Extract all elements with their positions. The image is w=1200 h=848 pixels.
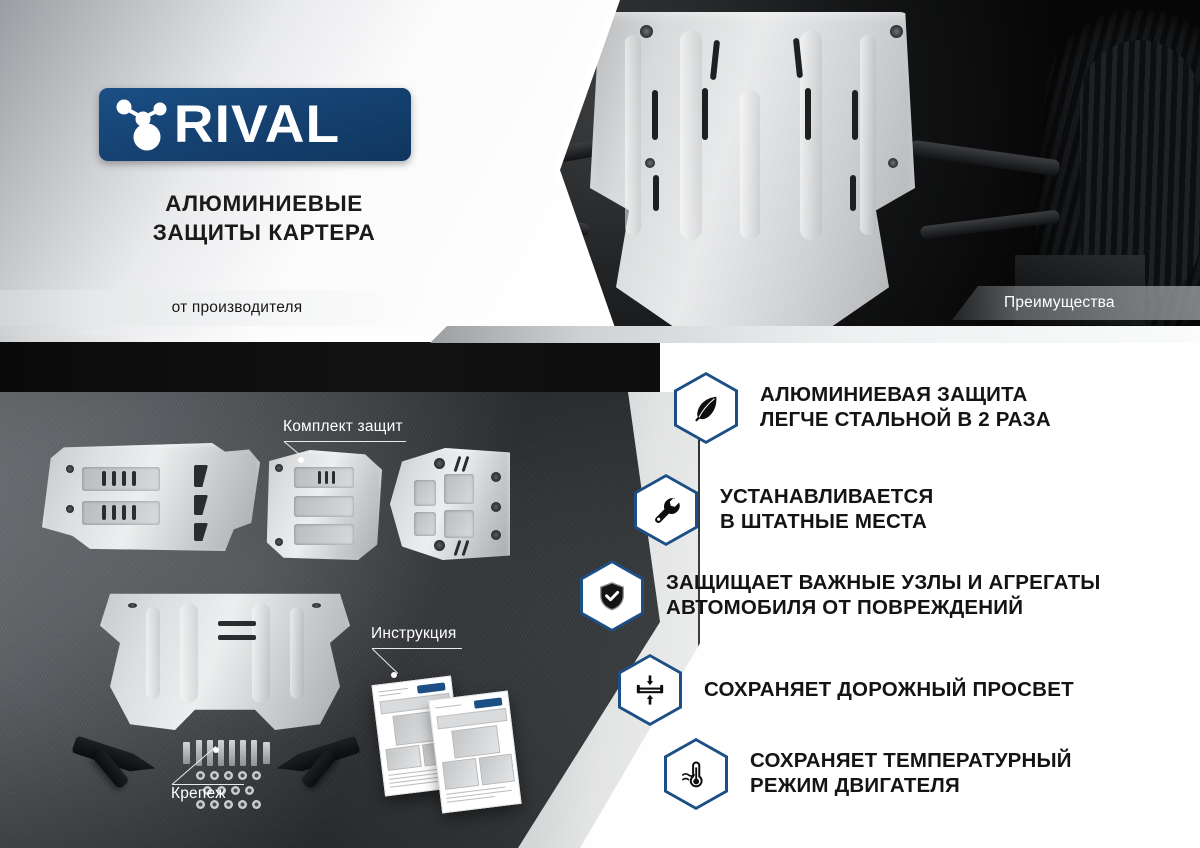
shield-check-icon	[580, 560, 644, 632]
skid-bolt-2	[890, 25, 903, 38]
skid-slot-2	[702, 88, 708, 140]
skid-slot-8	[850, 175, 856, 211]
label-kit-leader-dot	[298, 457, 304, 463]
hardware-washer-3	[224, 771, 233, 780]
label-hardware-leader-dot	[213, 747, 219, 753]
skid-rib-2	[680, 30, 702, 240]
hardware-plate-1	[183, 742, 190, 764]
hardware-washer-4	[238, 771, 247, 780]
label-instruction: Инструкция	[371, 625, 456, 643]
feature-5-line2: РЕЖИМ ДВИГАТЕЛЯ	[750, 774, 960, 797]
hardware-washer-9	[245, 786, 254, 795]
feature-item-3[interactable]: ЗАЩИЩАЕТ ВАЖНЫЕ УЗЛЫ И АГРЕГАТЫАВТОМОБИЛ…	[580, 560, 1101, 632]
feature-item-2[interactable]: УСТАНАВЛИВАЕТСЯВ ШТАТНЫЕ МЕСТА	[634, 474, 933, 546]
hardware-bolt-3	[218, 740, 224, 766]
feather-icon	[674, 372, 738, 444]
skid-rib-4	[860, 35, 876, 235]
hardware-plate-2	[263, 742, 270, 764]
feature-item-2-text: УСТАНАВЛИВАЕТСЯВ ШТАТНЫЕ МЕСТА	[720, 485, 933, 534]
skid-plate-large-bottom	[100, 585, 350, 730]
brand-wordmark: RIVAL	[174, 98, 340, 151]
skid-plate-large-left	[42, 443, 260, 551]
page-title: АЛЮМИНИЕВЫЕ ЗАЩИТЫ КАРТЕРА	[99, 190, 429, 247]
divider-black-band	[0, 342, 660, 394]
feature-item-1[interactable]: АЛЮМИНИЕВАЯ ЗАЩИТАЛЕГЧЕ СТАЛЬНОЙ В 2 РАЗ…	[674, 372, 1051, 444]
photo-under-strip	[430, 326, 1200, 343]
label-kit: Комплект защит	[283, 418, 403, 436]
instruction-sheet-back	[428, 691, 521, 814]
hero-panel-inner	[0, 0, 612, 335]
promo-poster: Преимущества RIVAL АЛЮМИНИЕВЫЕ ЗАЩИ	[0, 0, 1200, 848]
hardware-washer-1	[196, 771, 205, 780]
page-title-line1: АЛЮМИНИЕВЫЕ	[99, 190, 429, 219]
feature-item-4-text: СОХРАНЯЕТ ДОРОЖНЫЙ ПРОСВЕТ	[704, 678, 1074, 703]
skid-rib-5	[740, 90, 760, 240]
skid-rib-3	[800, 30, 822, 240]
label-instruction-leader-dot	[391, 672, 397, 678]
skid-slot-1	[652, 90, 658, 140]
feature-item-5[interactable]: СОХРАНЯЕТ ТЕМПЕРАТУРНЫЙРЕЖИМ ДВИГАТЕЛЯ	[664, 738, 1072, 810]
advantages-tag-label: Преимущества	[1004, 294, 1115, 312]
manufacturer-band-label: от производителя	[172, 299, 303, 317]
skid-bolt-3	[645, 158, 655, 168]
skid-slot-5	[805, 88, 811, 140]
feature-3-line2: АВТОМОБИЛЯ ОТ ПОВРЕЖДЕНИЙ	[666, 596, 1023, 619]
hardware-bolt-4	[229, 740, 235, 766]
brand-logo-plate: RIVAL	[99, 88, 411, 161]
hardware-washer-2	[210, 771, 219, 780]
page-title-line2: ЗАЩИТЫ КАРТЕРА	[99, 219, 429, 248]
skid-rib-1	[625, 35, 641, 235]
feature-4-line1: СОХРАНЯЕТ ДОРОЖНЫЙ ПРОСВЕТ	[704, 678, 1074, 701]
feature-1-line2: ЛЕГЧЕ СТАЛЬНОЙ В 2 РАЗА	[760, 408, 1051, 431]
ground-clearance-icon	[618, 654, 682, 726]
advantages-tag: Преимущества	[952, 286, 1200, 320]
skid-bolt-4	[888, 158, 898, 168]
skid-plate-middle	[262, 450, 382, 560]
feature-item-1-text: АЛЮМИНИЕВАЯ ЗАЩИТАЛЕГЧЕ СТАЛЬНОЙ В 2 РАЗ…	[760, 383, 1051, 432]
feature-item-3-text: ЗАЩИЩАЕТ ВАЖНЫЕ УЗЛЫ И АГРЕГАТЫАВТОМОБИЛ…	[666, 571, 1101, 620]
label-hardware: Крепеж	[171, 785, 226, 803]
hardware-bolt-5	[240, 740, 246, 766]
skid-plate-right	[390, 448, 510, 560]
sheet-logo-front	[417, 682, 446, 693]
feature-1-line1: АЛЮМИНИЕВАЯ ЗАЩИТА	[760, 383, 1028, 406]
manufacturer-band: от производителя	[0, 290, 430, 326]
sheet-logo-back	[474, 697, 503, 708]
molecule-icon	[113, 96, 179, 154]
skid-slot-6	[852, 90, 858, 140]
feature-2-line2: В ШТАТНЫЕ МЕСТА	[720, 510, 927, 533]
feature-2-line1: УСТАНАВЛИВАЕТСЯ	[720, 485, 933, 508]
feature-item-4[interactable]: СОХРАНЯЕТ ДОРОЖНЫЙ ПРОСВЕТ	[618, 654, 1074, 726]
feature-item-5-text: СОХРАНЯЕТ ТЕМПЕРАТУРНЫЙРЕЖИМ ДВИГАТЕЛЯ	[750, 749, 1072, 798]
hardware-washer-14	[252, 800, 261, 809]
features-list: АЛЮМИНИЕВАЯ ЗАЩИТАЛЕГЧЕ СТАЛЬНОЙ В 2 РАЗ…	[604, 352, 1200, 848]
hardware-bolt-6	[251, 740, 257, 766]
skid-slot-7	[653, 175, 659, 211]
wrench-icon	[634, 474, 698, 546]
thermometer-icon	[664, 738, 728, 810]
feature-5-line1: СОХРАНЯЕТ ТЕМПЕРАТУРНЫЙ	[750, 749, 1072, 772]
hardware-washer-8	[231, 786, 240, 795]
hardware-washer-5	[252, 771, 261, 780]
hardware-washer-13	[238, 800, 247, 809]
skid-bolt-1	[640, 25, 653, 38]
feature-3-line1: ЗАЩИЩАЕТ ВАЖНЫЕ УЗЛЫ И АГРЕГАТЫ	[666, 571, 1101, 594]
